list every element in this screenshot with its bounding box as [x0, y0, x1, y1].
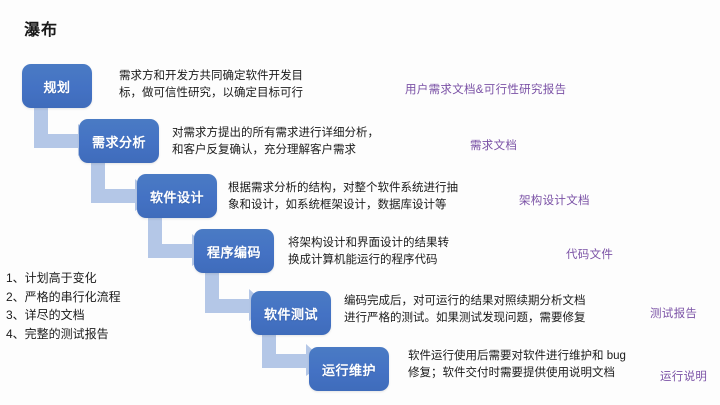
stage-description-software-design: 根据需求分析的结构，对整个软件系统进行抽 象和设计，如系统框架设计，数据库设计等 — [228, 180, 518, 213]
stage-description-requirements-analysis: 对需求方提出的所有需求进行详细分析， 和客户反复确认，充分理解客户需求 — [172, 125, 472, 158]
stage-artifact-program-coding: 代码文件 — [566, 246, 613, 262]
stage-box-program-coding[interactable]: 程序编码 — [194, 229, 274, 273]
stage-artifact-requirements-analysis: 需求文档 — [470, 137, 517, 153]
page-title: 瀑布 — [24, 16, 58, 40]
principle-item-2: 2、严格的串行化流程 — [6, 288, 121, 307]
stage-label-operation-maintenance: 运行维护 — [322, 360, 376, 379]
stage-label-software-testing: 软件测试 — [264, 304, 318, 323]
stage-box-software-testing[interactable]: 软件测试 — [251, 291, 331, 335]
stage-label-requirements-analysis: 需求分析 — [92, 132, 146, 151]
stage-label-software-design: 软件设计 — [150, 187, 204, 206]
principle-item-4: 4、完整的测试报告 — [6, 325, 121, 344]
stage-label-planning: 规划 — [43, 77, 70, 96]
stage-description-software-testing: 编码完成后，对可运行的结果对照续期分析文档 进行严格的测试。如果测试发现问题，需… — [344, 293, 644, 326]
stage-description-program-coding: 将架构设计和界面设计的结果转 换成计算机能运行的程序代码 — [288, 235, 538, 268]
stage-label-program-coding: 程序编码 — [207, 242, 261, 261]
stage-artifact-planning: 用户需求文档&可行性研究报告 — [405, 81, 566, 97]
stage-description-planning: 需求方和开发方共同确定软件开发目 标，做可信性研究，以确定目标可行 — [119, 68, 399, 101]
stage-box-software-design[interactable]: 软件设计 — [137, 174, 217, 218]
stage-box-planning[interactable]: 规划 — [22, 64, 92, 108]
principle-item-1: 1、计划高于变化 — [6, 269, 121, 288]
waterfall-diagram-canvas: 瀑布 规划 需求方和开发方共同确定软件开发目 标，做可信性研究，以确定目标可行 … — [0, 0, 720, 405]
stage-artifact-operation-maintenance: 运行说明 — [660, 368, 707, 384]
principle-item-3: 3、详尽的文档 — [6, 306, 121, 325]
stage-description-operation-maintenance: 软件运行使用后需要对软件进行维护和 bug 修复；软件交付时需要提供使用说明文档 — [408, 348, 668, 381]
stage-box-operation-maintenance[interactable]: 运行维护 — [309, 347, 389, 391]
principles-list: 1、计划高于变化 2、严格的串行化流程 3、详尽的文档 4、完整的测试报告 — [6, 269, 121, 343]
stage-artifact-software-design: 架构设计文档 — [519, 192, 590, 208]
stage-artifact-software-testing: 测试报告 — [650, 305, 697, 321]
stage-box-requirements-analysis[interactable]: 需求分析 — [79, 119, 159, 163]
